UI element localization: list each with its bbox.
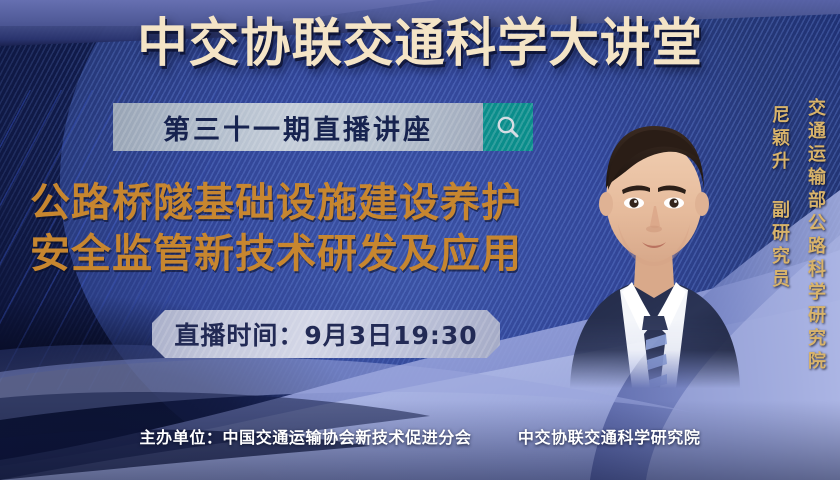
search-icon	[495, 114, 521, 140]
page-title: 中交协联交通科学大讲堂	[13, 18, 828, 70]
lecture-topic-line-2: 安全监管新技术研发及应用	[30, 229, 590, 280]
broadcast-time-label: 直播时间：9月3日19:30	[174, 316, 477, 352]
live-lecture-poster: 中交协联交通科学大讲堂 第三十一期直播讲座 公路桥隧基础设施建设养护 安全监管新…	[0, 0, 840, 480]
episode-banner-plate: 第三十一期直播讲座	[113, 103, 483, 151]
footer-co-organizer: 中交协联交通科学研究院	[518, 428, 701, 447]
lecture-topic: 公路桥隧基础设施建设养护 安全监管新技术研发及应用	[30, 178, 590, 280]
footer-organizers: 主办单位：中国交通运输协会新技术促进分会 中交协联交通科学研究院	[0, 424, 840, 448]
lecture-topic-line-1: 公路桥隧基础设施建设养护	[30, 178, 590, 229]
episode-banner: 第三十一期直播讲座	[113, 103, 533, 151]
footer-organizer: 主办单位：中国交通运输协会新技术促进分会	[140, 428, 472, 447]
episode-label: 第三十一期直播讲座	[163, 108, 433, 147]
speaker-organization: 交通运输部公路科学研究院	[802, 98, 828, 374]
speaker-name-title: 尼颖升 副研究员	[766, 105, 792, 292]
search-button[interactable]	[483, 103, 533, 151]
broadcast-time-badge: 直播时间：9月3日19:30	[152, 310, 500, 358]
